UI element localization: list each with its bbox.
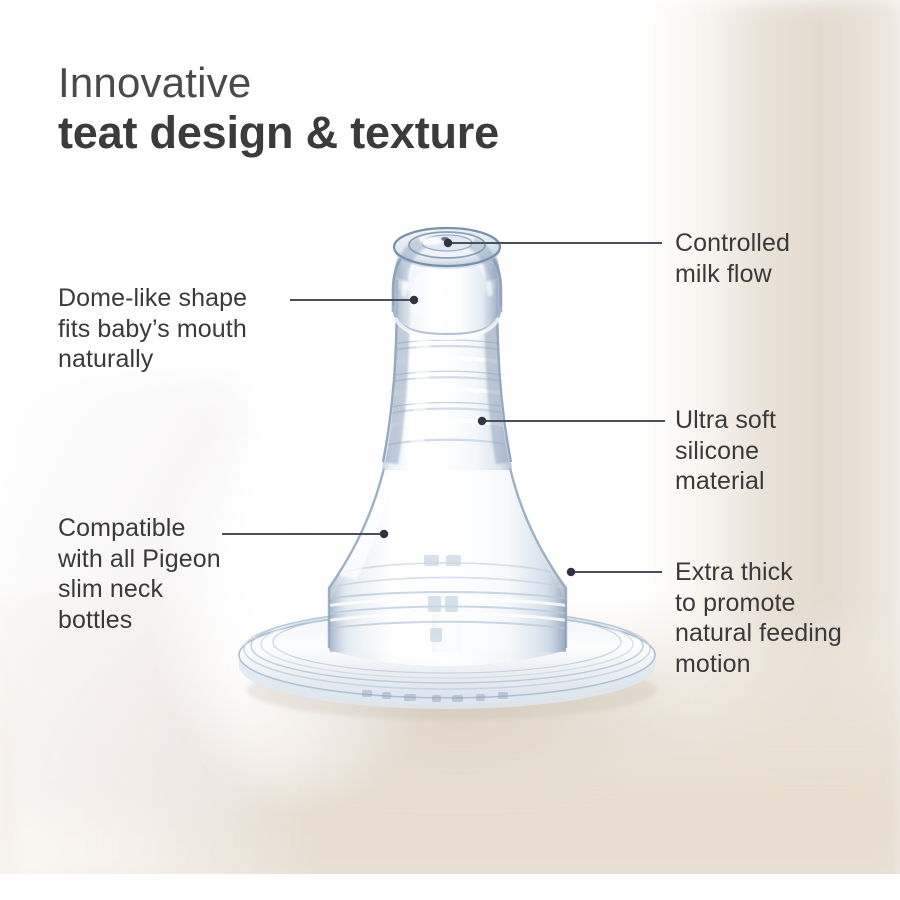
callout-ultra-soft-silicone: Ultra soft silicone material xyxy=(675,405,776,497)
callout-compatible-bottles: Compatible with all Pigeon slim neck bot… xyxy=(58,513,221,635)
callout-dome-line-2: fits baby’s mouth xyxy=(58,314,247,345)
callout-compatible-line-4: bottles xyxy=(58,605,221,636)
callout-compatible-line-2: with all Pigeon xyxy=(58,544,221,575)
page-title: Innovative teat design & texture xyxy=(58,62,499,155)
callout-extra-thick-line-1: Extra thick xyxy=(675,557,842,588)
teat-skirt xyxy=(292,468,604,666)
teat-dome-head xyxy=(393,228,501,338)
callout-dome-like-shape: Dome-like shape fits baby’s mouth natura… xyxy=(58,283,247,375)
callout-extra-thick-line-2: to promote xyxy=(675,588,842,619)
infographic-canvas: Innovative teat design & texture Dome-li… xyxy=(0,0,900,900)
callout-compatible-line-1: Compatible xyxy=(58,513,221,544)
title-line-1: Innovative xyxy=(58,62,499,104)
callout-extra-thick-line-3: natural feeding xyxy=(675,618,842,649)
callout-extra-thick-line-4: motion xyxy=(675,649,842,680)
callout-silicone-line-1: Ultra soft xyxy=(675,405,776,436)
callout-extra-thick: Extra thick to promote natural feeding m… xyxy=(675,557,842,679)
callout-milk-flow-line-2: milk flow xyxy=(675,259,790,290)
callout-silicone-line-2: silicone xyxy=(675,436,776,467)
callout-dome-line-3: naturally xyxy=(58,344,247,375)
background-bottom-strip xyxy=(0,874,900,900)
callout-controlled-milk-flow: Controlled milk flow xyxy=(675,228,790,289)
callout-compatible-line-3: slim neck xyxy=(58,574,221,605)
callout-dome-line-1: Dome-like shape xyxy=(58,283,247,314)
callout-milk-flow-line-1: Controlled xyxy=(675,228,790,259)
callout-silicone-line-3: material xyxy=(675,466,776,497)
title-line-2: teat design & texture xyxy=(58,110,499,155)
